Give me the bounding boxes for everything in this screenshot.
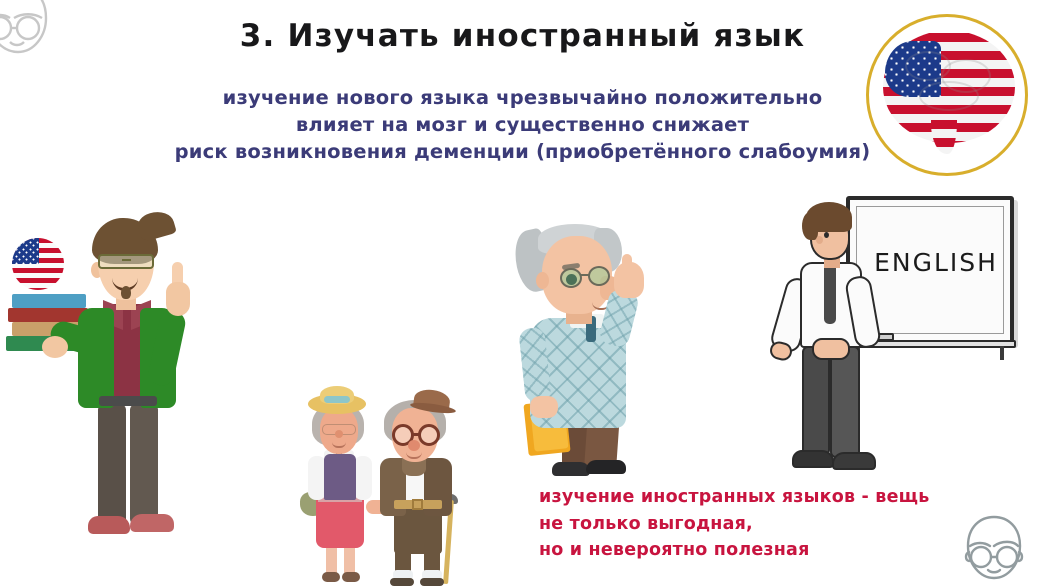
woman-nose <box>335 430 343 438</box>
nose <box>816 236 823 244</box>
character-teacher <box>778 200 886 490</box>
man-glasses-bridge <box>413 433 420 436</box>
glasses-icon <box>588 266 610 286</box>
left-hand <box>530 396 558 418</box>
man-belt-buckle <box>412 499 423 510</box>
right-shoe <box>832 452 876 470</box>
belt <box>99 396 157 406</box>
ear <box>536 272 549 289</box>
right-finger <box>622 254 632 274</box>
us-flag-brain-icon <box>883 33 1015 161</box>
glasses-bridge <box>581 274 590 276</box>
character-professor <box>508 224 668 486</box>
hair-side <box>802 212 818 240</box>
whiteboard-leg-right <box>1000 346 1004 360</box>
clasped-hands <box>812 338 850 360</box>
eye <box>824 232 829 238</box>
goatee <box>121 286 131 299</box>
whiteboard-text: ENGLISH <box>866 248 1006 277</box>
footnote-block: изучение иностранных языков - вещь не то… <box>539 484 929 564</box>
man-right-shoe <box>420 578 444 586</box>
character-elderly-couple <box>294 388 474 588</box>
left-hand <box>42 336 68 358</box>
book-blue <box>12 294 86 308</box>
right-leg <box>130 404 158 524</box>
woman-left-shoe <box>322 572 340 582</box>
left-shoe <box>792 450 834 468</box>
book-red <box>8 308 88 322</box>
woman-skirt <box>316 496 364 548</box>
hair-tuft <box>135 208 177 243</box>
woman-vest <box>324 454 356 500</box>
man-glasses-icon <box>418 424 440 446</box>
glasses-icon <box>98 254 154 269</box>
right-shoe <box>130 514 174 532</box>
footnote-line-3: но и невероятно полезная <box>539 537 929 564</box>
necktie <box>824 264 836 324</box>
glasses-icon <box>560 268 582 288</box>
right-hand <box>166 282 190 316</box>
left-shoe <box>88 516 130 534</box>
right-leg <box>830 346 860 458</box>
right-shoe <box>586 460 626 474</box>
brain-fold <box>919 81 979 111</box>
globe-flag-canton <box>12 238 39 264</box>
woman-right-sleeve <box>354 456 372 500</box>
face-with-glasses-logo-bottomright <box>960 512 1028 584</box>
flag-brain-medallion <box>866 14 1028 176</box>
woman-hat-band <box>324 396 350 403</box>
left-leg <box>98 404 126 524</box>
us-flag-globe-icon <box>12 238 64 290</box>
jacket-left <box>78 308 114 408</box>
slide-canvas: 3. Изучать иностранный язык изучение нов… <box>0 0 1045 588</box>
woman-right-shoe <box>342 572 360 582</box>
man-left-shoe <box>390 578 414 586</box>
footnote-line-2: не только выгодная, <box>539 511 929 538</box>
man-nose <box>408 440 420 451</box>
face-with-glasses-logo-topleft <box>0 0 50 62</box>
left-shoe <box>552 462 590 476</box>
glasses-bridge <box>122 259 131 261</box>
left-leg <box>802 346 830 456</box>
character-man-with-books <box>6 210 218 570</box>
brain-stem <box>931 120 957 154</box>
